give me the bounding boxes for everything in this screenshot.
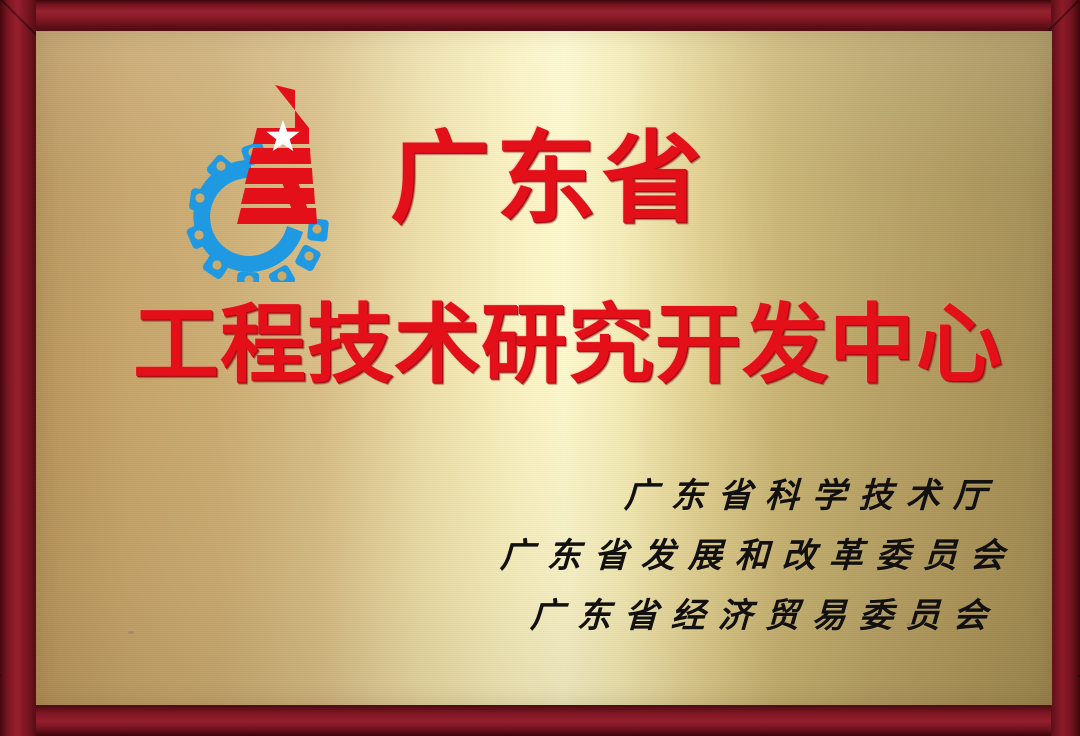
issuer-line: 广东省经济贸易委员会 xyxy=(499,586,1001,646)
page-title-center: 工程技术研究开发中心 xyxy=(133,295,1003,395)
frame-rail-left xyxy=(0,0,36,736)
frame-rail-bottom xyxy=(0,705,1080,736)
frame-rail-right xyxy=(1051,0,1080,736)
page-title-organization: 广东省 xyxy=(390,123,708,235)
award-plaque: 广东省 工程技术研究开发中心 广东省科学技术厅 广东省发展和改革委员会 广东省经… xyxy=(0,0,1080,736)
star-icon xyxy=(267,120,300,151)
issuing-authorities: 广东省科学技术厅 广东省发展和改革委员会 广东省经济贸易委员会 xyxy=(500,466,1000,646)
issuer-line: 广东省科学技术厅 xyxy=(499,466,1001,526)
issuer-line: 广东省发展和改革委员会 xyxy=(499,526,1001,586)
plate-speck xyxy=(128,631,134,634)
erc-emblem-logo xyxy=(183,82,333,282)
erc-emblem-icon xyxy=(183,82,333,282)
frame-rail-top xyxy=(0,0,1080,33)
